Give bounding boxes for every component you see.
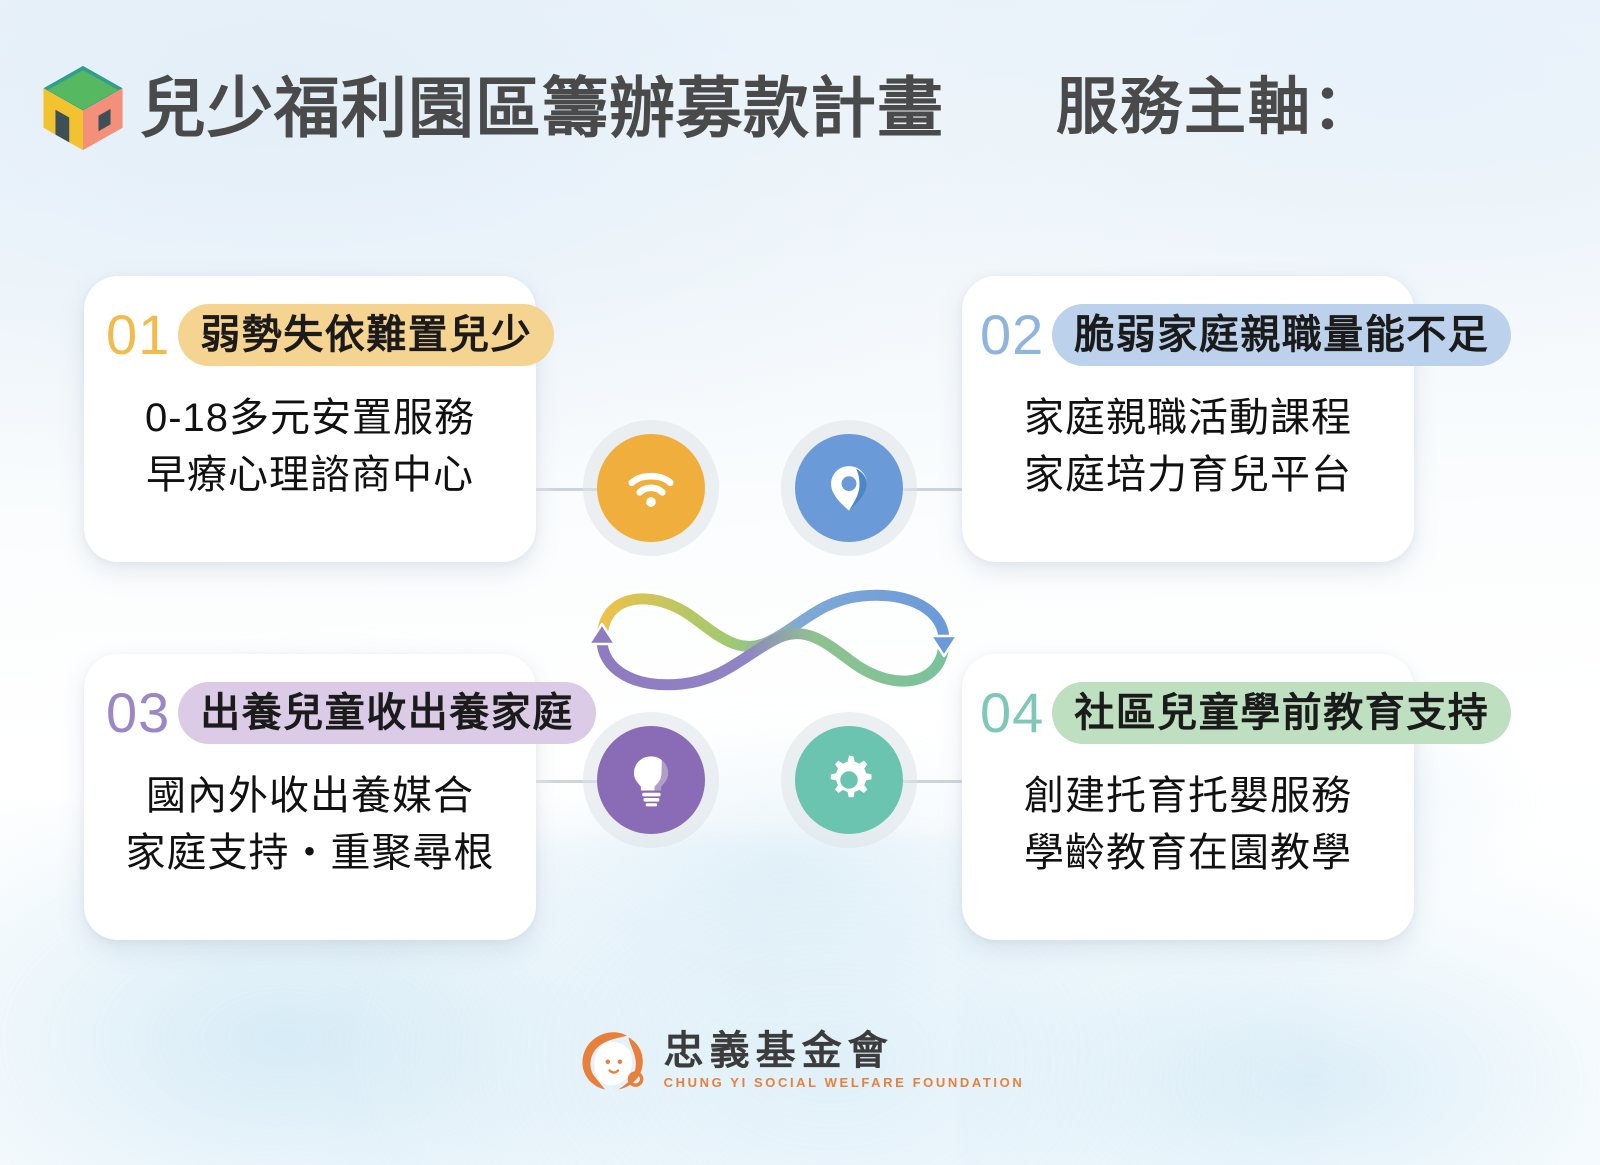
badge-wifi[interactable] — [597, 434, 705, 542]
slide-header: 兒少福利園區籌辦募款計畫 服務主軸： — [40, 62, 1376, 154]
card-02-header: 02 脆弱家庭親職量能不足 — [962, 302, 1414, 368]
card-03-number: 03 — [106, 685, 170, 741]
card-04-header: 04 社區兒童學前教育支持 — [962, 680, 1414, 746]
page-title: 兒少福利園區籌辦募款計畫 — [140, 75, 944, 141]
card-01-header: 01 弱勢失依難置兒少 — [84, 302, 536, 368]
infinity-loop-icon — [572, 560, 972, 720]
service-card-02[interactable]: 02 脆弱家庭親職量能不足 家庭親職活動課程 家庭培力育兒平台 — [962, 276, 1414, 562]
card-04-line1: 創建托育托嬰服務 — [962, 768, 1414, 825]
service-card-04[interactable]: 04 社區兒童學前教育支持 創建托育托嬰服務 學齡教育在園教學 — [962, 654, 1414, 940]
card-02-number: 02 — [980, 307, 1044, 363]
card-01-line2: 早療心理諮商中心 — [84, 447, 536, 504]
footer-text: 忠義基金會 CHUNG YI SOCIAL WELFARE FOUNDATION — [664, 1030, 1025, 1090]
card-01-pill-label: 弱勢失依難置兒少 — [178, 304, 554, 366]
card-04-line2: 學齡教育在園教學 — [962, 825, 1414, 882]
slide-canvas: 兒少福利園區籌辦募款計畫 服務主軸： 01 弱勢失依難置兒少 0-18多元安置服… — [0, 0, 1600, 1165]
card-03-line1: 國內外收出養媒合 — [84, 768, 536, 825]
location-pin-icon — [821, 460, 877, 516]
card-02-body: 家庭親職活動課程 家庭培力育兒平台 — [962, 390, 1414, 504]
card-02-line1: 家庭親職活動課程 — [962, 390, 1414, 447]
chungyi-mascot-icon — [576, 1027, 650, 1093]
house-icon — [40, 62, 126, 154]
card-01-number: 01 — [106, 307, 170, 363]
badge-location[interactable] — [795, 434, 903, 542]
lightbulb-icon — [623, 752, 679, 808]
card-04-number: 04 — [980, 685, 1044, 741]
card-03-pill-label: 出養兒童收出養家庭 — [178, 682, 596, 744]
wifi-icon — [623, 460, 679, 516]
footer-org-name-cn: 忠義基金會 — [664, 1030, 894, 1072]
footer-org-name-en: CHUNG YI SOCIAL WELFARE FOUNDATION — [664, 1075, 1025, 1090]
card-04-pill-label: 社區兒童學前教育支持 — [1052, 682, 1511, 744]
card-03-body: 國內外收出養媒合 家庭支持・重聚尋根 — [84, 768, 536, 882]
service-card-03[interactable]: 03 出養兒童收出養家庭 國內外收出養媒合 家庭支持・重聚尋根 — [84, 654, 536, 940]
card-02-line2: 家庭培力育兒平台 — [962, 447, 1414, 504]
badge-lightbulb[interactable] — [597, 726, 705, 834]
card-01-body: 0-18多元安置服務 早療心理諮商中心 — [84, 390, 536, 504]
card-04-body: 創建托育托嬰服務 學齡教育在園教學 — [962, 768, 1414, 882]
footer-logo: 忠義基金會 CHUNG YI SOCIAL WELFARE FOUNDATION — [0, 1027, 1600, 1093]
card-01-line1: 0-18多元安置服務 — [84, 390, 536, 447]
gear-icon — [821, 752, 877, 808]
page-subtitle: 服務主軸： — [1056, 77, 1376, 139]
service-card-01[interactable]: 01 弱勢失依難置兒少 0-18多元安置服務 早療心理諮商中心 — [84, 276, 536, 562]
badge-gear[interactable] — [795, 726, 903, 834]
card-03-header: 03 出養兒童收出養家庭 — [84, 680, 536, 746]
card-03-line2: 家庭支持・重聚尋根 — [84, 825, 536, 882]
card-02-pill-label: 脆弱家庭親職量能不足 — [1052, 304, 1511, 366]
